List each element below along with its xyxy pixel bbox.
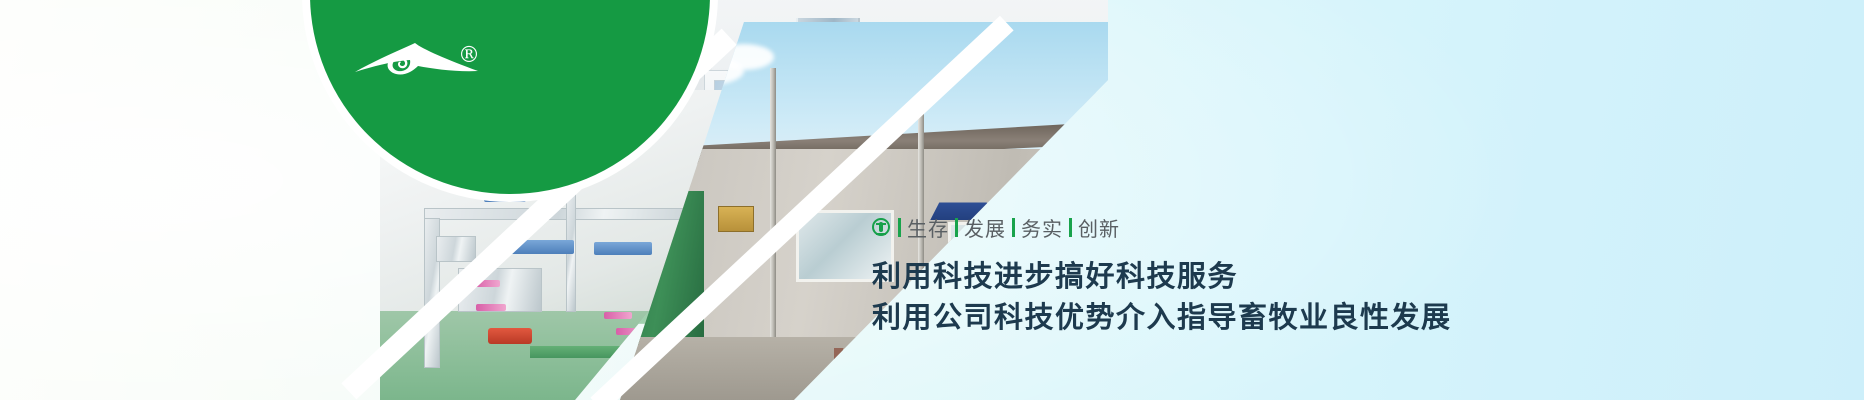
headline-line-1: 利用科技进步搞好科技服务 bbox=[872, 256, 1572, 297]
tagline-word-3: 务实 bbox=[1018, 213, 1066, 242]
machine-actuator bbox=[594, 242, 652, 255]
downspout-pipe bbox=[770, 68, 776, 344]
tagline-word-1: 生存 bbox=[904, 213, 952, 242]
tagline-separator bbox=[1069, 218, 1072, 237]
output-conveyor bbox=[530, 346, 650, 358]
banner-text-block: 生存 发展 务实 创新 利用科技进步搞好科技服务 利用公司科技优势介入指导畜牧业… bbox=[872, 214, 1572, 338]
registered-trademark-icon: ® bbox=[458, 45, 480, 67]
tagline-separator bbox=[1012, 218, 1015, 237]
tagline-word-4: 创新 bbox=[1075, 213, 1123, 242]
headline-line-2: 利用公司科技优势介入指导畜牧业良性发展 bbox=[872, 297, 1572, 338]
machine-hose bbox=[488, 328, 532, 344]
tagline-word-2: 发展 bbox=[961, 213, 1009, 242]
green-circle-figure-icon bbox=[872, 218, 890, 236]
company-hero-banner: ® 生存 发展 务实 创新 利用科技进步搞好科技服务 利用公司科技优势介入指导畜… bbox=[0, 0, 1864, 400]
machine-control-panel bbox=[436, 236, 476, 262]
tagline-separator bbox=[898, 218, 901, 237]
tagline-separator bbox=[955, 218, 958, 237]
product-pouch bbox=[616, 328, 646, 335]
product-pouch bbox=[476, 304, 506, 311]
product-pouch bbox=[604, 312, 632, 319]
tagline: 生存 发展 务实 创新 bbox=[872, 214, 1572, 240]
factory-sign-plaque bbox=[718, 206, 754, 232]
